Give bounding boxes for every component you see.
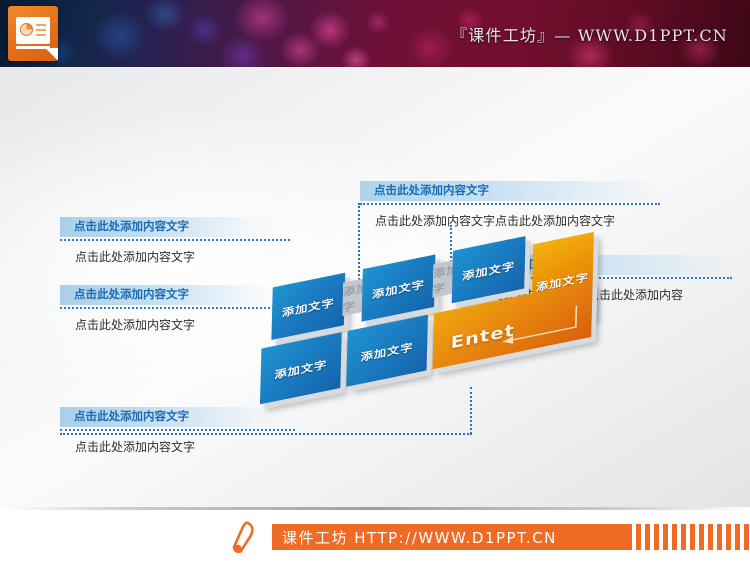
- diagram-tile-t1-label: 添加文字: [282, 293, 335, 319]
- caption-left-lower-title: 点击此处添加内容文字: [74, 407, 189, 427]
- powerpoint-icon-line: [36, 29, 46, 31]
- diagram-tile-t1[interactable]: 添加文字: [271, 273, 345, 340]
- powerpoint-icon-body: [8, 6, 58, 61]
- footer-stripes: [636, 524, 750, 550]
- powerpoint-icon-line: [36, 24, 46, 26]
- pen-icon: [228, 521, 258, 553]
- caption-left-upper-bar: 点击此处添加内容文字: [60, 217, 290, 237]
- footer: 课件工坊 HTTP://WWW.D1PPT.CN: [0, 507, 750, 563]
- footer-text: 课件工坊 HTTP://WWW.D1PPT.CN: [272, 527, 557, 548]
- diagram-tile-t3[interactable]: 添加文字: [452, 236, 526, 303]
- caption-left-upper-title: 点击此处添加内容文字: [74, 217, 189, 237]
- diagram-tile-b1-label: 添加文字: [274, 355, 327, 381]
- diagram-entet-arrow-icon: [489, 302, 580, 353]
- banner-title: 『课件工坊』— WWW.D1PPT.CN: [451, 22, 728, 46]
- top-banner: 『课件工坊』— WWW.D1PPT.CN: [0, 0, 750, 67]
- diagram-tile-b2-label: 添加文字: [360, 338, 413, 364]
- caption-left-mid-title: 点击此处添加内容文字: [74, 285, 189, 305]
- diagram-tile-t2-label: 添加文字: [372, 275, 425, 301]
- caption-left-upper-rule: [60, 239, 290, 241]
- slide-canvas: 点击此处添加内容文字 点击此处添加内容文字点击此处添加内容文字 点击此处添加内容…: [0, 67, 750, 507]
- powerpoint-icon-line: [36, 34, 46, 36]
- diagram-tile-t2[interactable]: 添加文字: [362, 254, 436, 321]
- powerpoint-icon: [8, 6, 58, 61]
- caption-left-upper: 点击此处添加内容文字 点击此处添加内容文字: [60, 217, 290, 265]
- powerpoint-icon-fold: [45, 48, 58, 61]
- diagram-tile-b2[interactable]: 添加文字: [346, 315, 428, 387]
- powerpoint-icon-slide: [16, 17, 50, 44]
- caption-top-rule: [360, 203, 660, 205]
- diagram-tile-b1[interactable]: 添加文字: [260, 332, 342, 404]
- isometric-diagram: 添加文字 添加文字 添加文字 添加文字 添加文字 添加文字 添加文字 添加文字 …: [251, 194, 589, 451]
- footer-divider: [0, 507, 750, 510]
- caption-top-title: 点击此处添加内容文字: [374, 181, 489, 201]
- caption-top-bar: 点击此处添加内容文字: [360, 181, 660, 201]
- footer-band: 课件工坊 HTTP://WWW.D1PPT.CN: [272, 524, 632, 550]
- powerpoint-icon-pie: [20, 23, 33, 36]
- diagram-tile-t3-label: 添加文字: [462, 256, 515, 282]
